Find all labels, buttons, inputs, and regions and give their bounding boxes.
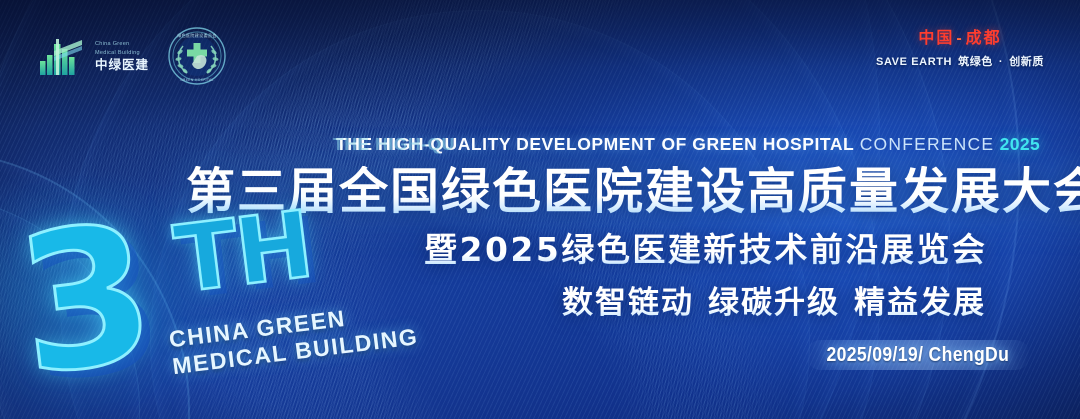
date-location-text: 2025/09/19/ ChengDu: [827, 344, 1010, 367]
primary-logo-chinese-name: 中绿医建: [95, 59, 149, 72]
green-building-bars-logo-icon: [38, 35, 88, 77]
edition-lockup: 3 TH CHINA GREEN MEDICAL BUILDING: [1, 174, 406, 419]
tagline: SAVE EARTH筑绿色·创新质: [876, 53, 1044, 69]
svg-text:GREEN HOSPITAL: GREEN HOSPITAL: [180, 78, 214, 82]
tagline-chinese-1: 筑绿色: [958, 56, 993, 68]
slogan: 数智链动绿碳升级精益发展: [562, 286, 986, 320]
slogan-phrase-3: 精益发展: [854, 285, 986, 321]
primary-logo[interactable]: China Green Medical Building 中绿医建: [38, 35, 149, 77]
slogan-phrase-2: 绿碳升级: [708, 285, 840, 321]
tagline-english: SAVE EARTH: [876, 56, 952, 68]
laurel-wreath-medical-cross-emblem-icon[interactable]: 绿色医院建设委员会 GREEN HOSPITAL: [167, 26, 227, 86]
host-city-dash: -: [954, 30, 965, 47]
host-city-country: 中国: [918, 30, 954, 47]
slogan-phrase-1: 数智链动: [562, 285, 694, 321]
subtitle: 暨2025绿色医建新技术前沿展览会: [424, 232, 987, 268]
host-city-name: 成都: [966, 30, 1002, 47]
edition-number-wrap: 3: [9, 203, 162, 398]
tagline-chinese-2: 创新质: [1009, 56, 1044, 68]
logo-row: China Green Medical Building 中绿医建: [38, 26, 227, 86]
edition-number: 3: [7, 182, 165, 417]
date-location-badge: 2025/09/19/ ChengDu: [806, 340, 1030, 370]
primary-logo-english-line1: China Green: [95, 41, 149, 48]
top-right-block: 中国-成都 SAVE EARTH筑绿色·创新质: [876, 30, 1044, 69]
host-city-label: 中国-成都: [876, 30, 1044, 48]
english-headline-year: 2025: [1000, 134, 1041, 154]
edition-ordinal: TH: [169, 191, 317, 314]
conference-banner: China Green Medical Building 中绿医建: [0, 0, 1080, 419]
english-headline-part2: GREEN HOSPITAL: [692, 134, 854, 154]
edition-ordinal-wrap: TH: [170, 199, 316, 307]
tagline-dot: ·: [999, 56, 1003, 68]
english-headline-of: OF: [661, 134, 686, 154]
primary-logo-english-line2: Medical Building: [95, 50, 149, 57]
primary-logo-text: China Green Medical Building 中绿医建: [95, 41, 149, 71]
english-headline-ghost-overlay: THE HIGH-QU: [333, 136, 455, 154]
svg-text:绿色医院建设委员会: 绿色医院建设委员会: [177, 32, 217, 38]
english-headline: THE HIGH-QU THE HIGH-QUALITY DEVELOPMENT…: [336, 136, 1040, 154]
english-headline-conference: CONFERENCE: [860, 134, 995, 154]
